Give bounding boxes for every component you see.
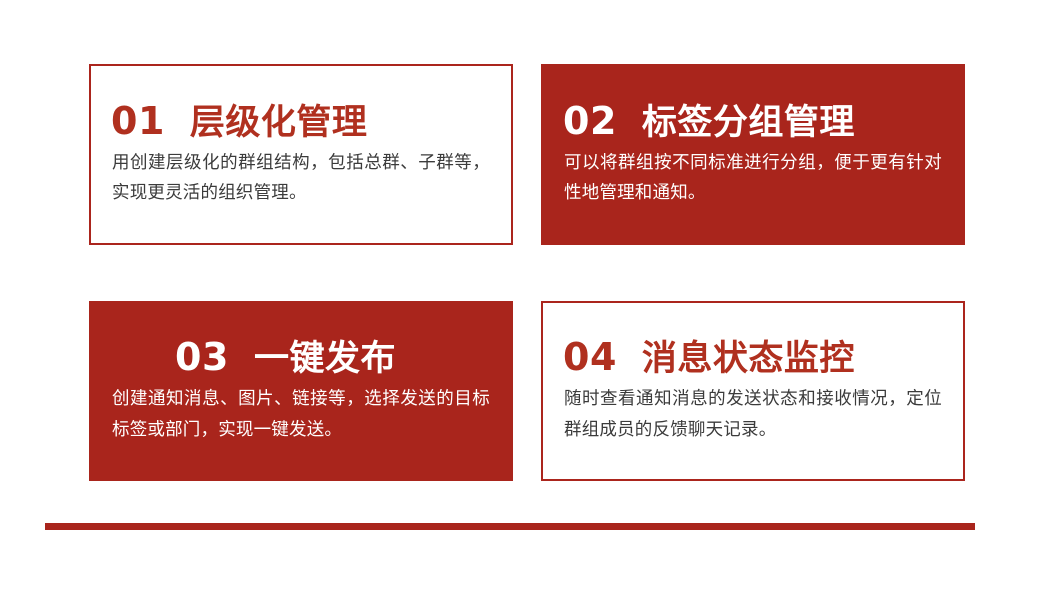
card-title-03: 一键发布	[254, 341, 396, 376]
feature-card-03[interactable]: 03 一键发布 创建通知消息、图片、链接等，选择发送的目标标签或部门，实现一键发…	[89, 301, 513, 481]
card-header-03: 03 一键发布	[108, 338, 494, 376]
card-number-04: 04	[563, 338, 617, 376]
card-body-04: 随时查看通知消息的发送状态和接收情况，定位群组成员的反馈聊天记录。	[560, 383, 946, 443]
slide-canvas: 01 层级化管理 用创建层级化的群组结构，包括总群、子群等，实现更灵活的组织管理…	[0, 0, 1038, 592]
card-number-03: 03	[175, 338, 229, 376]
card-header-01: 01 层级化管理	[108, 102, 494, 140]
card-title-02: 标签分组管理	[642, 105, 855, 140]
feature-card-01[interactable]: 01 层级化管理 用创建层级化的群组结构，包括总群、子群等，实现更灵活的组织管理…	[89, 64, 513, 245]
card-title-01: 层级化管理	[190, 105, 368, 140]
feature-card-02[interactable]: 02 标签分组管理 可以将群组按不同标准进行分组，便于更有针对性地管理和通知。	[541, 64, 965, 245]
card-number-01: 01	[111, 102, 165, 140]
card-header-04: 04 消息状态监控	[560, 338, 946, 376]
feature-card-04[interactable]: 04 消息状态监控 随时查看通知消息的发送状态和接收情况，定位群组成员的反馈聊天…	[541, 301, 965, 481]
card-body-02: 可以将群组按不同标准进行分组，便于更有针对性地管理和通知。	[560, 147, 946, 207]
card-title-04: 消息状态监控	[642, 341, 855, 376]
feature-card-grid: 01 层级化管理 用创建层级化的群组结构，包括总群、子群等，实现更灵活的组织管理…	[89, 64, 965, 481]
card-body-03: 创建通知消息、图片、链接等，选择发送的目标标签或部门，实现一键发送。	[108, 383, 494, 443]
card-header-02: 02 标签分组管理	[560, 102, 946, 140]
card-body-01: 用创建层级化的群组结构，包括总群、子群等，实现更灵活的组织管理。	[108, 147, 494, 207]
card-number-02: 02	[563, 102, 617, 140]
bottom-accent-rule	[45, 523, 975, 530]
